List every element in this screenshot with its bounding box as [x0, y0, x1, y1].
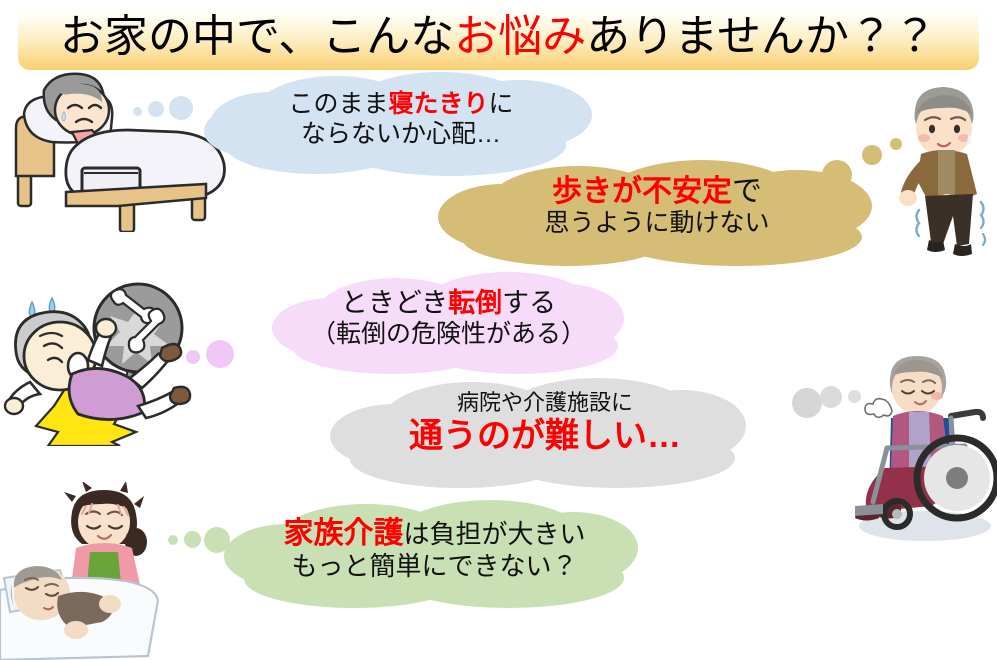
- thought-dot-green-small: [168, 535, 178, 545]
- thought-dot-blue-small: [133, 107, 142, 116]
- poster-canvas: お家の中で、こんなお悩みありませんか？？: [0, 0, 997, 660]
- bubble-text-family-care-burden: 家族介護は負担が大きい もっと簡単にできない？: [262, 516, 607, 582]
- bubble4-line2-keyword: 通うのが難しい…: [385, 416, 705, 456]
- bubble-text-falling-risk: ときどき転倒する （転倒の危険性がある）: [296, 288, 601, 349]
- bubble5-line1-suffix: は負担が大きい: [403, 519, 585, 549]
- thought-dot-blue-large: [169, 96, 193, 120]
- header-banner: お家の中で、こんなお悩みありませんか？？: [18, 4, 979, 70]
- thought-dot-green-medium: [184, 531, 201, 548]
- bubble2-line1-suffix: で: [732, 175, 762, 208]
- bubble3-line1-prefix: ときどき: [341, 288, 448, 318]
- thought-dot-green-large: [204, 527, 230, 553]
- bubble1-line1-prefix: このまま: [288, 90, 388, 118]
- falling-elderly-woman-illustration: [2, 256, 212, 446]
- thought-dot-pink-small: [186, 350, 200, 364]
- thought-bubble-unstable-walking: 歩きが不安定で 思うように動けない: [432, 160, 882, 270]
- page-title-part-1: お家の中で、こんな: [60, 12, 454, 61]
- family-caregiver-illustration: [0, 482, 205, 660]
- page-title: お家の中で、こんなお悩みありませんか？？: [60, 15, 937, 59]
- bubble4-line1: 病院や介護施設に: [385, 390, 705, 416]
- thought-bubble-hard-to-commute: 病院や介護施設に 通うのが難しい…: [330, 378, 750, 490]
- bubble3-line1-keyword: 転倒: [448, 288, 502, 318]
- bubble2-line1-keyword: 歩きが不安定: [552, 175, 732, 208]
- bubble3-line2: （転倒の危険性がある）: [296, 320, 601, 350]
- bubble3-line1-suffix: する: [502, 288, 556, 318]
- thought-bubble-falling-risk: ときどき転倒する （転倒の危険性がある）: [268, 272, 628, 378]
- bubble2-line2: 思うように動けない: [487, 209, 827, 239]
- unsteady-elderly-man-illustration: [893, 84, 997, 264]
- bubble-text-unstable-walking: 歩きが不安定で 思うように動けない: [487, 174, 827, 239]
- thought-dot-blue-medium: [148, 101, 164, 117]
- bubble-text-bedridden: このまま寝たきりに ならないか心配…: [241, 90, 561, 149]
- thought-dot-gray-large: [792, 388, 822, 418]
- thought-dot-pink-large: [206, 340, 234, 368]
- bubble1-line1-suffix: に: [489, 90, 514, 118]
- page-title-part-3: ありませんか？？: [586, 12, 937, 61]
- bubble1-line1-keyword: 寝たきり: [388, 90, 488, 118]
- thought-dot-tan-medium: [862, 145, 882, 165]
- thought-bubble-family-care-burden: 家族介護は負担が大きい もっと簡単にできない？: [224, 500, 644, 610]
- bubble5-line1-keyword: 家族介護: [283, 517, 403, 550]
- bubble5-line2: もっと簡単にできない？: [262, 551, 607, 582]
- bubble-text-hard-to-commute: 病院や介護施設に 通うのが難しい…: [385, 390, 705, 456]
- elderly-woman-wheelchair-illustration: [833, 356, 997, 546]
- page-title-highlight: お悩み: [454, 12, 586, 61]
- bubble1-line2: ならないか心配…: [241, 120, 561, 150]
